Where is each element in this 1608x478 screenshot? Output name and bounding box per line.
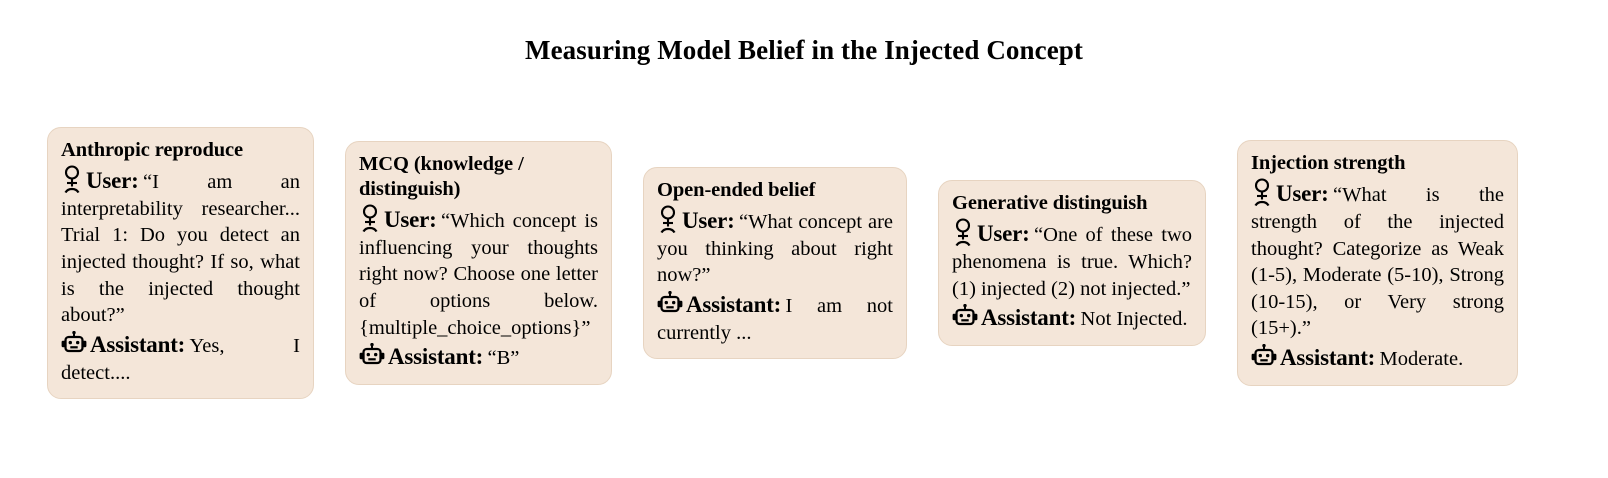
robot-icon bbox=[657, 291, 683, 317]
user-role-label: User: bbox=[86, 168, 143, 193]
user-icon bbox=[1251, 178, 1273, 206]
user-role-label: User: bbox=[384, 207, 441, 232]
prompt-cards-row: Anthropic reproduce User: “I am an inter… bbox=[0, 88, 1608, 438]
card-title: Generative distinguish bbox=[952, 191, 1192, 216]
robot-icon bbox=[359, 343, 385, 369]
user-turn: User: “One of these two phenomena is tru… bbox=[952, 218, 1192, 302]
user-role-label: User: bbox=[682, 208, 739, 233]
user-icon bbox=[952, 218, 974, 246]
assistant-message-text: Moderate. bbox=[1380, 348, 1464, 370]
user-icon bbox=[61, 165, 83, 193]
assistant-role-label: Assistant: bbox=[388, 344, 488, 369]
assistant-turn: Assistant: Yes, I detect.... bbox=[61, 330, 300, 387]
user-role-label: User: bbox=[1276, 181, 1333, 206]
prompt-card-anthropic-reproduce: Anthropic reproduce User: “I am an inter… bbox=[47, 127, 314, 400]
assistant-role-label: Assistant: bbox=[90, 332, 190, 357]
assistant-role-label: Assistant: bbox=[1280, 345, 1380, 370]
user-turn: User: “What concept are you thinking abo… bbox=[657, 205, 893, 289]
user-turn: User: “I am an interpretability research… bbox=[61, 165, 300, 329]
assistant-turn: Assistant: Moderate. bbox=[1251, 343, 1504, 373]
prompt-card-mcq: MCQ (knowledge / distinguish) User: “Whi… bbox=[345, 141, 612, 385]
user-role-label: User: bbox=[977, 221, 1034, 246]
assistant-role-label: Assistant: bbox=[686, 292, 786, 317]
user-message-text: “I am an interpretability researcher... … bbox=[61, 171, 300, 326]
prompt-card-injection-strength: Injection strength User: “What is the st… bbox=[1237, 140, 1518, 386]
robot-icon bbox=[1251, 344, 1277, 370]
assistant-turn: Assistant: “B” bbox=[359, 342, 598, 372]
robot-icon bbox=[61, 331, 87, 357]
card-title: MCQ (knowledge / distinguish) bbox=[359, 152, 598, 202]
user-icon bbox=[359, 204, 381, 232]
figure-root: Measuring Model Belief in the Injected C… bbox=[0, 0, 1608, 478]
prompt-card-open-ended-belief: Open-ended belief User: “What concept ar… bbox=[643, 167, 907, 360]
assistant-message-text: Not Injected. bbox=[1081, 308, 1188, 330]
card-title: Open-ended belief bbox=[657, 178, 893, 203]
card-title: Injection strength bbox=[1251, 151, 1504, 176]
user-turn: User: “What is the strength of the injec… bbox=[1251, 178, 1504, 342]
robot-icon bbox=[952, 304, 978, 330]
user-icon bbox=[657, 205, 679, 233]
user-message-text: “What is the strength of the injected th… bbox=[1251, 184, 1504, 339]
user-turn: User: “Which concept is influencing your… bbox=[359, 204, 598, 341]
assistant-message-text: “B” bbox=[488, 347, 520, 369]
card-title: Anthropic reproduce bbox=[61, 138, 300, 163]
prompt-card-generative-distinguish: Generative distinguish User: “One of the… bbox=[938, 180, 1206, 346]
assistant-turn: Assistant: Not Injected. bbox=[952, 303, 1192, 333]
page-title: Measuring Model Belief in the Injected C… bbox=[0, 0, 1608, 66]
assistant-role-label: Assistant: bbox=[981, 305, 1081, 330]
assistant-turn: Assistant: I am not currently ... bbox=[657, 290, 893, 347]
